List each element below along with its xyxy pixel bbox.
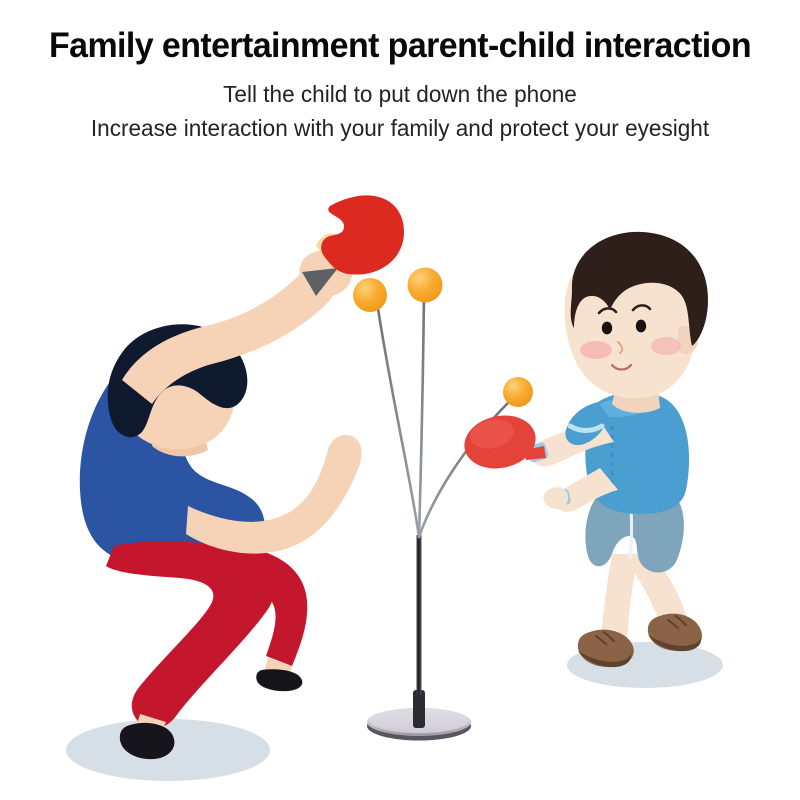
practice-ball-center xyxy=(408,268,443,303)
trainer-main-pole xyxy=(417,535,422,695)
text-block: Family entertainment parent-child intera… xyxy=(0,0,800,145)
adult-front-leg xyxy=(106,541,275,729)
child-eye-left xyxy=(602,322,612,335)
subtitle-line-1: Tell the child to put down the phone xyxy=(16,65,784,111)
child-blush-left xyxy=(580,341,612,359)
child-eye-right xyxy=(636,320,646,333)
page-title: Family entertainment parent-child intera… xyxy=(12,0,788,65)
practice-ball-left xyxy=(353,278,387,312)
trainer-shaft-center xyxy=(419,293,424,537)
poster-root: Family entertainment parent-child intera… xyxy=(0,0,800,800)
trainer-shaft-left xyxy=(377,302,419,537)
adult-back-shoe xyxy=(256,669,302,691)
table-tennis-trainer xyxy=(353,268,533,741)
illustration-scene xyxy=(0,150,800,800)
child-free-hand xyxy=(544,487,569,509)
child-player xyxy=(459,232,708,667)
subtitle-line-2: Increase interaction with your family an… xyxy=(16,112,784,145)
practice-ball-right xyxy=(503,377,533,407)
adult-player xyxy=(80,195,404,759)
child-paddle xyxy=(459,409,546,475)
child-blush-right xyxy=(651,337,681,355)
trainer-pole-socket xyxy=(413,690,425,728)
